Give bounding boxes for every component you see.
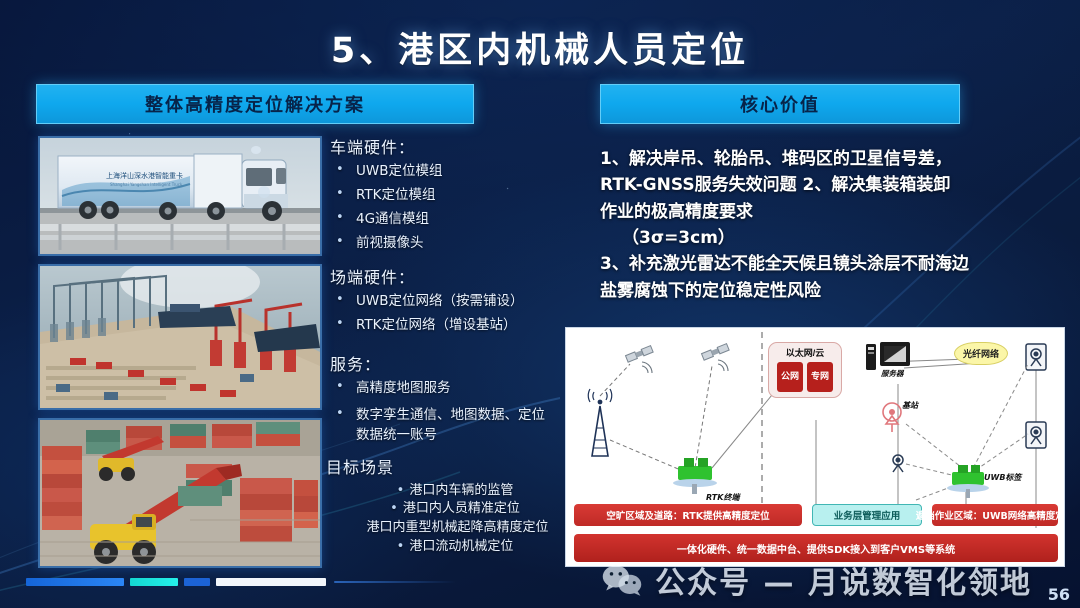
list-item: 港口内车辆的监管 — [326, 484, 584, 498]
photo-container-yard-reachstacker — [38, 418, 322, 568]
section-header-right: 核心价值 — [600, 84, 960, 124]
left-group-vehicle-hardware: 车端硬件： UWB定位模组 RTK定位模组 4G通信模组 前视摄像头 — [330, 140, 580, 260]
photo-container-port-aerial — [38, 264, 322, 410]
decor-bar-cyan — [130, 578, 178, 586]
private-net-cell: 专网 — [807, 362, 833, 392]
server-icon — [866, 342, 910, 370]
left-group-services: 服务： 高精度地图服务 数字孪生通信、地图数据、定位 数据统一账号 — [330, 357, 580, 455]
group-heading: 目标场景 — [326, 460, 584, 477]
architecture-diagram: RTK终端 服务器 — [565, 327, 1065, 567]
core-value-line-4: 3、补充激光雷达不能全天候且镜头涂层不耐海边 — [600, 251, 990, 277]
list-item: 数字孪生通信、地图数据、定位 数据统一账号 — [330, 405, 545, 446]
list-item: UWB定位模组 — [330, 164, 580, 178]
svg-text:Shanghai Yangshan Intelligent: Shanghai Yangshan Intelligent Truck — [110, 182, 183, 187]
group-heading: 场端硬件： — [330, 270, 580, 287]
footer-bar-integration: 一体化硬件、统一数据中台、提供SDK接入到客户VMS等系统 — [574, 534, 1058, 562]
list-item: 港口内重型机械起降高精度定位 — [326, 521, 584, 535]
satellite-signal-1 — [642, 362, 652, 373]
group-item-list: UWB定位网络（按需铺设） RTK定位网络（增设基站） — [330, 294, 580, 332]
slide-title: 5、港区内机械人员定位 — [0, 22, 1080, 73]
decor-bar-blue — [26, 578, 124, 586]
decor-line-fade — [334, 581, 456, 583]
photo-autonomous-truck: 上海洋山深水港智能重卡 Shanghai Yangshan Intelligen… — [38, 136, 322, 256]
satellite-signal-2 — [718, 360, 728, 371]
public-net-cell: 公网 — [777, 362, 803, 392]
section-header-left: 整体高精度定位解决方案 — [36, 84, 474, 124]
footer-bar-rtk-zone: 空旷区域及道路：RTK提供高精度定位 — [574, 504, 802, 526]
decor-bar-blue-small — [184, 578, 210, 586]
left-group-target-scenarios: 目标场景 港口内车辆的监管 港口内人员精准定位 港口内重型机械起降高精度定位 港… — [326, 460, 584, 558]
list-item: 港口流动机械定位 — [326, 540, 584, 554]
ethernet-cloud-title: 以太网/云 — [786, 346, 825, 359]
fiber-network-cloud: 光纤网络 — [954, 342, 1008, 365]
core-value-line-1: 1、解决岸吊、轮胎吊、堆码区的卫星信号差， — [600, 146, 990, 172]
wechat-icon — [601, 563, 643, 597]
ethernet-cloud-box: 以太网/云 公网 专网 — [768, 342, 842, 398]
rtk-terminal-vehicle-icon — [673, 458, 717, 494]
group-item-list: 港口内车辆的监管 港口内人员精准定位 港口内重型机械起降高精度定位 港口流动机械… — [326, 484, 584, 554]
footer-bar-business-layer: 业务层管理应用 — [812, 504, 922, 526]
reference-tower-icon — [588, 389, 611, 456]
page-number: 56 — [1048, 585, 1070, 604]
group-item-list: UWB定位模组 RTK定位模组 4G通信模组 前视摄像头 — [330, 164, 580, 251]
core-value-paragraphs: 1、解决岸吊、轮胎吊、堆码区的卫星信号差， RTK-GNSS服务失效问题 2、解… — [600, 146, 990, 304]
server-label: 服务器 — [880, 369, 905, 378]
group-item-list: 高精度地图服务 数字孪生通信、地图数据、定位 数据统一账号 — [330, 381, 580, 446]
list-item: 港口内人员精准定位 — [326, 502, 584, 516]
base-station-label: 基站 — [902, 401, 920, 410]
core-value-line-5: 盐雾腐蚀下的定位稳定性风险 — [600, 278, 990, 304]
list-item: UWB定位网络（按需铺设） — [330, 294, 580, 308]
satellite-icon-2 — [701, 344, 729, 361]
core-value-line-3: 作业的极高精度要求 — [600, 199, 990, 225]
left-group-field-hardware: 场端硬件： UWB定位网络（按需铺设） RTK定位网络（增设基站） — [330, 270, 580, 342]
antenna-tower-right-2 — [1026, 422, 1046, 448]
group-heading: 服务： — [330, 357, 580, 374]
rtk-terminal-label: RTK终端 — [706, 493, 741, 502]
core-value-accuracy: （3σ=3cm） — [600, 225, 990, 251]
svg-text:上海洋山深水港智能重卡: 上海洋山深水港智能重卡 — [106, 171, 183, 180]
satellite-links — [600, 364, 712, 474]
footer-bar-uwb-zone: 遮挡作业区域：UWB网络高精度定位 — [932, 504, 1058, 526]
list-item: RTK定位网络（增设基站） — [330, 318, 580, 332]
uwb-tag-vehicle-icon — [947, 465, 989, 498]
presentation-slide: 5、港区内机械人员定位 整体高精度定位解决方案 核心价值 上海洋山深水港智能重卡… — [0, 0, 1080, 608]
list-item: 前视摄像头 — [330, 236, 580, 250]
core-value-line-2: RTK-GNSS服务失效问题 2、解决集装箱装卸 — [600, 172, 990, 198]
uwb-tag-label: UWB标签 — [984, 473, 1023, 482]
list-item: 高精度地图服务 — [330, 381, 580, 395]
list-item: RTK定位模组 — [330, 188, 580, 202]
network-cells: 公网 专网 — [777, 362, 833, 392]
satellite-icon-1 — [625, 346, 653, 363]
list-item: 4G通信模组 — [330, 212, 580, 226]
antenna-tower-right-1 — [1026, 344, 1046, 370]
decor-bar-white — [216, 578, 326, 586]
group-heading: 车端硬件： — [330, 140, 580, 157]
